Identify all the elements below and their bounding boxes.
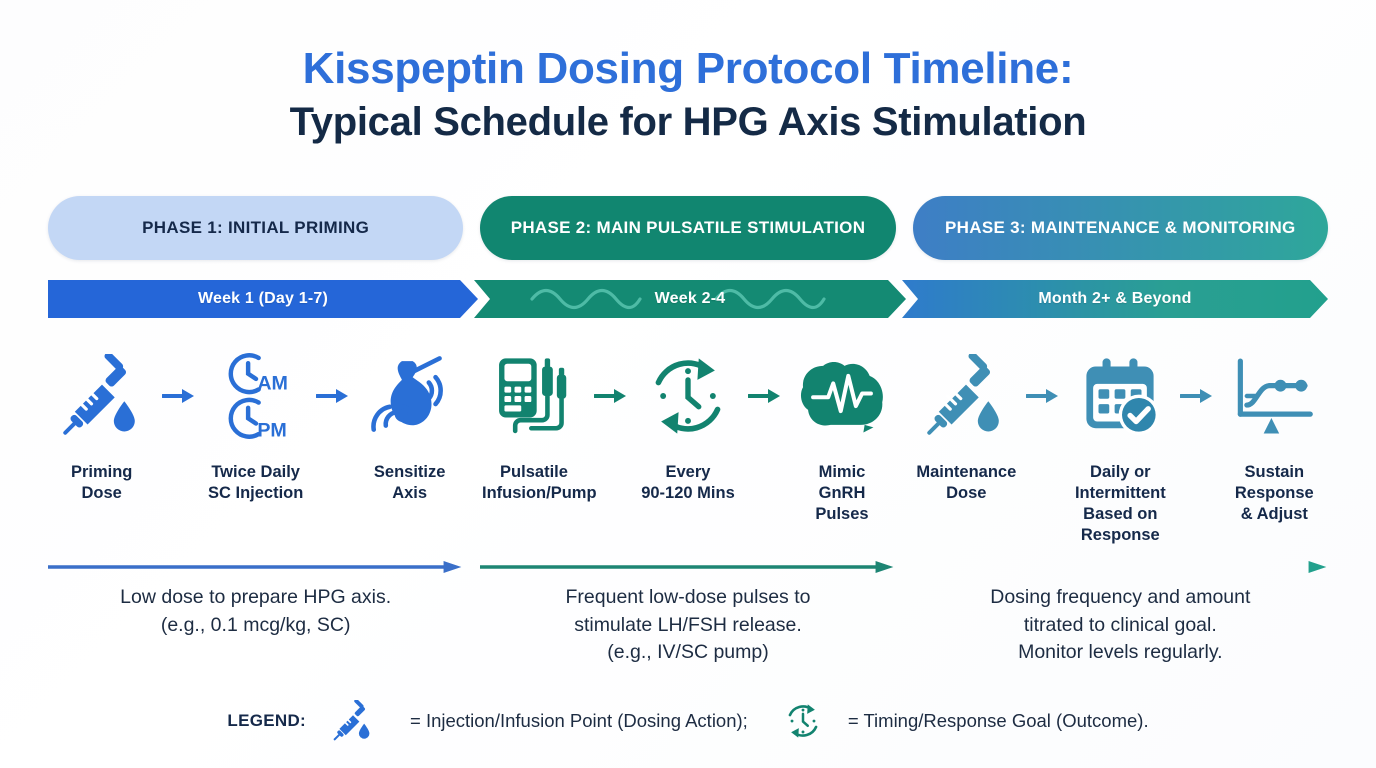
syringe-droplet-icon [332,700,374,742]
step-label-priming-dose: PrimingDose [50,462,154,504]
title-line-secondary: Typical Schedule for HPG Axis Stimulatio… [0,96,1376,148]
sine-wave-icon [714,280,826,318]
right-arrow-icon [316,386,350,406]
syringe-droplet-icon [924,354,1008,438]
brain-pulse-icon [798,356,886,436]
step-icon-maintenance-dose[interactable] [914,342,1018,450]
phase-column-3: MaintenanceDose Daily orIntermittentBase… [913,340,1328,546]
timeline-bar-label-3: Month 2+ & Beyond [1038,290,1191,308]
timeline-bar-label-2: Week 2-4 [655,290,726,308]
phase-description-3: Dosing frequency and amounttitrated to c… [913,584,1328,667]
step-icon-sustain-response[interactable] [1222,342,1326,450]
plateau-chart-balance-icon [1230,354,1318,438]
step-icon-pulsatile-infusion[interactable] [482,342,586,450]
progress-arrow-row [48,560,1328,574]
pituitary-gland-waves-icon [367,353,453,439]
phase-steps-row: AM PM [48,340,1328,546]
legend-text-injection: = Injection/Infusion Point (Dosing Actio… [410,710,748,732]
step-label-sustain-response: SustainResponse& Adjust [1222,462,1326,546]
syringe-droplet-icon [60,354,144,438]
step-label-mimic-gnrh-pulses: MimicGnRHPulses [790,462,894,525]
step-label-sensitize-axis: SensitizeAxis [358,462,462,504]
phase-header-row: PHASE 1: INITIAL PRIMING PHASE 2: MAIN P… [48,196,1328,260]
calendar-check-icon [1077,353,1163,439]
step-label-pulsatile-infusion: PulsatileInfusion/Pump [482,462,586,525]
am-pm-clocks-icon: AM PM [214,350,298,442]
phase-description-1: Low dose to prepare HPG axis.(e.g., 0.1 … [48,584,463,667]
progress-arrow-icon [913,560,1328,574]
phase-2-label-strip: PulsatileInfusion/Pump Every90-120 Mins … [480,462,895,525]
phase-1-icon-strip: AM PM [48,340,463,452]
timeline-bar-label-1: Week 1 (Day 1-7) [198,290,328,308]
phase-pill-2[interactable]: PHASE 2: MAIN PULSATILE STIMULATION [480,196,895,260]
legend-title: LEGEND: [227,711,306,731]
step-icon-priming-dose[interactable] [50,342,154,450]
progress-arrow-icon [48,560,463,574]
flow-arrow-2a [590,386,632,406]
sine-wave-icon [530,280,642,318]
step-label-twice-daily: Twice DailySC Injection [204,462,308,504]
infusion-pump-icon [491,353,577,439]
legend-text-timing: = Timing/Response Goal (Outcome). [848,710,1149,732]
flow-arrow-3a [1022,386,1064,406]
phase-column-1: AM PM [48,340,463,546]
phase-3-label-strip: MaintenanceDose Daily orIntermittentBase… [913,462,1328,546]
right-arrow-icon [1026,386,1060,406]
title-line-primary: Kisspeptin Dosing Protocol Timeline: [0,42,1376,96]
legend: LEGEND: = Injection/Infusion Point (Dosi… [0,700,1376,742]
progress-arrow-2 [480,560,895,574]
cyclic-clock-icon [645,353,731,439]
phase-1-label-strip: PrimingDose Twice DailySC Injection Sens… [48,462,463,504]
svg-text:PM: PM [257,420,287,442]
timeline-bar-phase-3[interactable]: Month 2+ & Beyond [902,280,1328,318]
flow-arrow-3b [1176,386,1218,406]
flow-arrow-1a [158,386,200,406]
progress-arrow-1 [48,560,463,574]
step-icon-every-90-120[interactable] [636,342,740,450]
progress-arrow-3 [913,560,1328,574]
step-label-daily-intermittent: Daily orIntermittentBased onResponse [1068,462,1172,546]
timeline-bar-phase-2[interactable]: Week 2-4 [474,280,906,318]
right-arrow-icon [748,386,782,406]
step-label-every-90-120: Every90-120 Mins [636,462,740,525]
svg-text:AM: AM [257,372,288,394]
right-arrow-icon [1180,386,1214,406]
step-icon-mimic-gnrh-pulses[interactable] [790,342,894,450]
cyclic-clock-icon [784,702,822,740]
step-icon-twice-daily[interactable]: AM PM [204,342,308,450]
phase-description-2: Frequent low-dose pulses tostimulate LH/… [480,584,895,667]
phase-2-icon-strip [480,340,895,452]
step-label-maintenance-dose: MaintenanceDose [914,462,1018,546]
step-icon-sensitize-axis[interactable] [358,342,462,450]
page-title: Kisspeptin Dosing Protocol Timeline: Typ… [0,42,1376,148]
flow-arrow-2b [744,386,786,406]
legend-icon-injection [332,700,374,742]
timeline-bar-phase-1[interactable]: Week 1 (Day 1-7) [48,280,478,318]
timeline-bar-row: Week 1 (Day 1-7) Week 2-4 Month 2+ & Bey… [48,280,1328,318]
phase-3-icon-strip [913,340,1328,452]
legend-icon-timing [784,702,822,740]
phase-description-row: Low dose to prepare HPG axis.(e.g., 0.1 … [48,584,1328,667]
phase-column-2: PulsatileInfusion/Pump Every90-120 Mins … [480,340,895,546]
phase-pill-3[interactable]: PHASE 3: MAINTENANCE & MONITORING [913,196,1328,260]
progress-arrow-icon [480,560,895,574]
right-arrow-icon [162,386,196,406]
step-icon-daily-intermittent[interactable] [1068,342,1172,450]
right-arrow-icon [594,386,628,406]
flow-arrow-1b [312,386,354,406]
phase-pill-1[interactable]: PHASE 1: INITIAL PRIMING [48,196,463,260]
